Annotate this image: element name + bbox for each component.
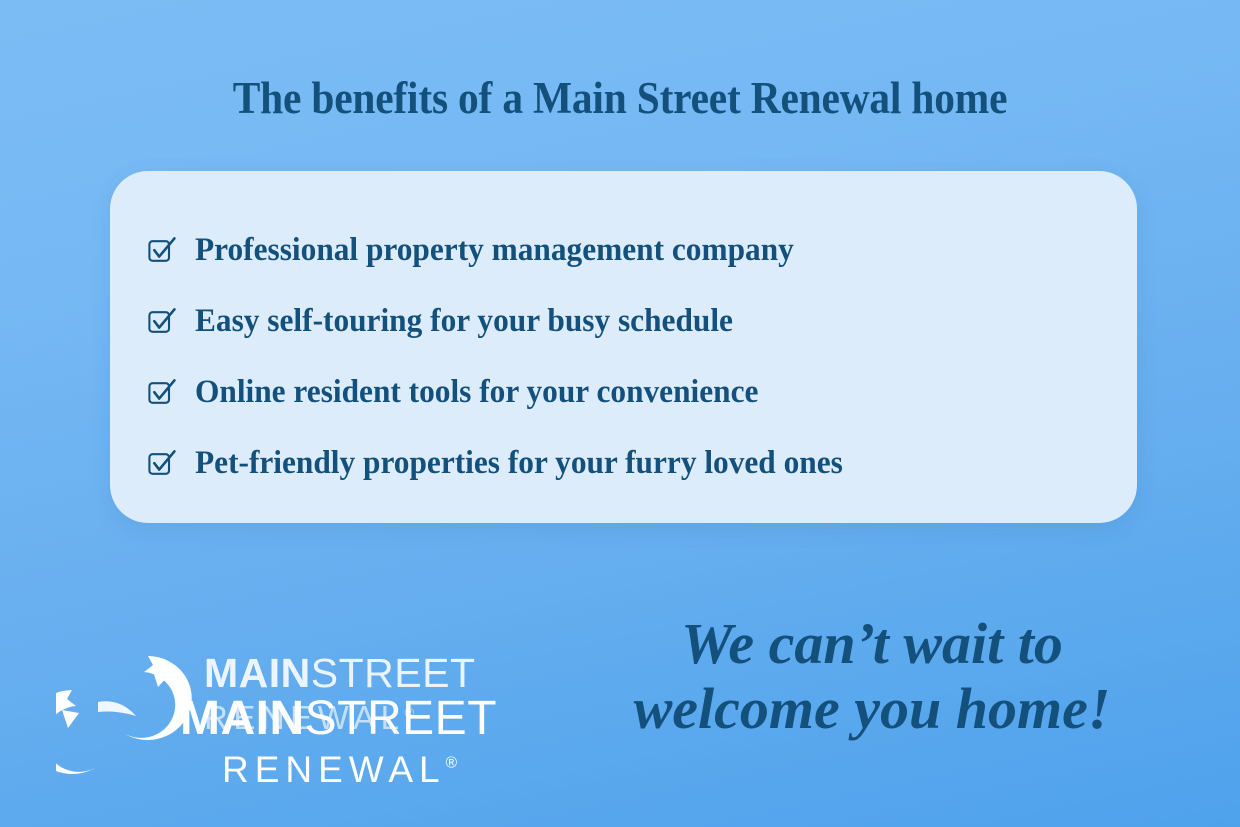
list-item: Easy self-touring for your busy schedule [110,286,1137,357]
list-item: Online resident tools for your convenien… [110,357,1137,428]
wordmark-primary-main: MAIN [180,692,305,745]
checkbox-checked-icon [147,306,177,336]
list-item-label: Pet-friendly properties for your furry l… [195,447,843,480]
wordmark-primary-line2: RENEWAL® [180,751,497,788]
wordmark-ghost-rest: STREET [311,650,476,696]
benefits-card: Professional property management company… [110,171,1137,523]
wordmark-primary: MAINSTREET RENEWAL® [180,695,497,788]
wordmark-primary-rest: STREET [305,692,497,745]
benefits-list: Professional property management company… [110,215,1137,499]
checkbox-checked-icon [147,235,177,265]
tagline-line-1: We can’t wait to [681,611,1063,676]
list-item-label: Professional property management company [195,234,794,267]
registered-mark-icon: ® [446,754,457,771]
checkbox-checked-icon [147,448,177,478]
tagline-line-2: welcome you home! [562,677,1182,742]
wordmark-ghost-line1: MAINSTREET [204,653,476,694]
tagline: We can’t wait to welcome you home! [562,612,1182,742]
brand-logo: MAINSTREET RENEWAL® MAINSTREET RENEWAL® [52,630,552,795]
list-item-label: Online resident tools for your convenien… [195,376,758,409]
list-item: Professional property management company [110,215,1137,286]
list-item-label: Easy self-touring for your busy schedule [195,305,733,338]
wordmark-primary-renewal: RENEWAL [222,749,446,790]
page-title: The benefits of a Main Street Renewal ho… [50,72,1191,124]
wordmark-ghost-main: MAIN [204,650,311,696]
checkbox-checked-icon [147,377,177,407]
wordmark-primary-line1: MAINSTREET [180,695,497,743]
list-item: Pet-friendly properties for your furry l… [110,428,1137,499]
